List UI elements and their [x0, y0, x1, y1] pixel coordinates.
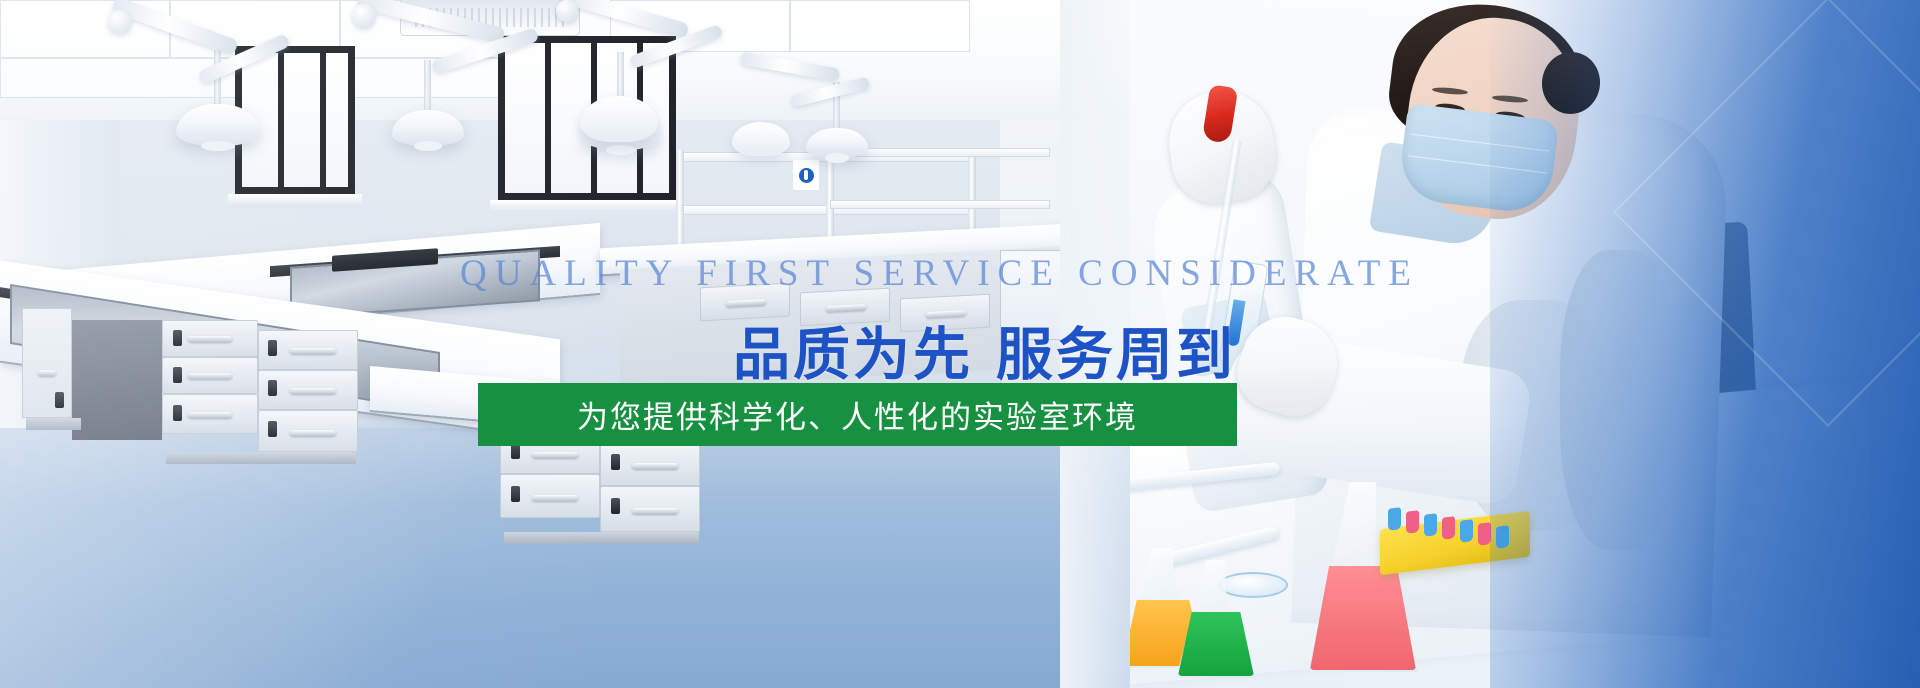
arm-joint: [556, 0, 578, 22]
extractor-hood: [580, 96, 658, 142]
coat-fold: [1560, 250, 1680, 550]
petri-dish: [1218, 572, 1288, 598]
drawer-handle: [532, 495, 578, 501]
subtitle-text: 为您提供科学化、人性化的实验室环境: [577, 392, 1138, 437]
cabinet-plinth: [504, 532, 699, 544]
reagent-shelf: [830, 200, 1050, 209]
brand-logo-icon: [793, 160, 819, 190]
test-tube: [1478, 522, 1491, 546]
drawer-lock-icon: [173, 405, 182, 421]
arm-joint: [108, 10, 132, 34]
drawer-lock-icon: [268, 421, 277, 437]
pendant-lamp: [806, 128, 868, 158]
headline: 品质为先 服务周到: [733, 309, 1236, 391]
test-tube: [1496, 525, 1509, 549]
drawer-lock-icon: [611, 498, 620, 514]
extractor-hood: [732, 122, 790, 156]
cabinet-lock-icon: [55, 392, 64, 408]
cabinet-plinth: [26, 418, 81, 430]
ceiling-tile: [790, 0, 970, 52]
hero-banner: QUALITY FIRST SERVICE CONSIDERATE 品质为先 服…: [0, 0, 1920, 688]
drawer-handle: [290, 430, 336, 436]
window-sill: [228, 194, 362, 204]
test-tube: [1460, 519, 1473, 543]
bench-under-panel: [72, 320, 162, 440]
drawer-handle: [532, 452, 578, 458]
english-tagline: QUALITY FIRST SERVICE CONSIDERATE: [460, 252, 1419, 295]
test-tube: [1424, 513, 1437, 537]
drawer-lock-icon: [268, 380, 277, 396]
window-sill: [490, 200, 684, 210]
drawer-handle: [632, 508, 678, 514]
drawer-handle: [632, 463, 678, 469]
test-tube: [1442, 516, 1455, 540]
arm-joint: [352, 4, 376, 28]
drawer-lock-icon: [173, 330, 182, 346]
drawer-handle: [188, 412, 232, 418]
cabinet-handle: [38, 370, 56, 376]
test-tube: [1406, 510, 1419, 534]
lamp-rod: [424, 60, 431, 112]
drawer-handle: [290, 388, 336, 394]
drawer-lock-icon: [268, 340, 277, 356]
drawer-handle: [290, 348, 336, 354]
drawer-lock-icon: [611, 454, 620, 470]
drawer-handle: [188, 336, 232, 342]
test-tube: [1388, 507, 1401, 531]
lab-technician-photo: [1130, 0, 1920, 688]
drawer-lock-icon: [511, 486, 520, 502]
drawer-handle: [188, 373, 232, 379]
cabinet-plinth: [166, 452, 356, 464]
subtitle-bar: 为您提供科学化、人性化的实验室环境: [478, 383, 1237, 446]
drawer-lock-icon: [173, 367, 182, 383]
cabinet-door: [22, 308, 72, 418]
